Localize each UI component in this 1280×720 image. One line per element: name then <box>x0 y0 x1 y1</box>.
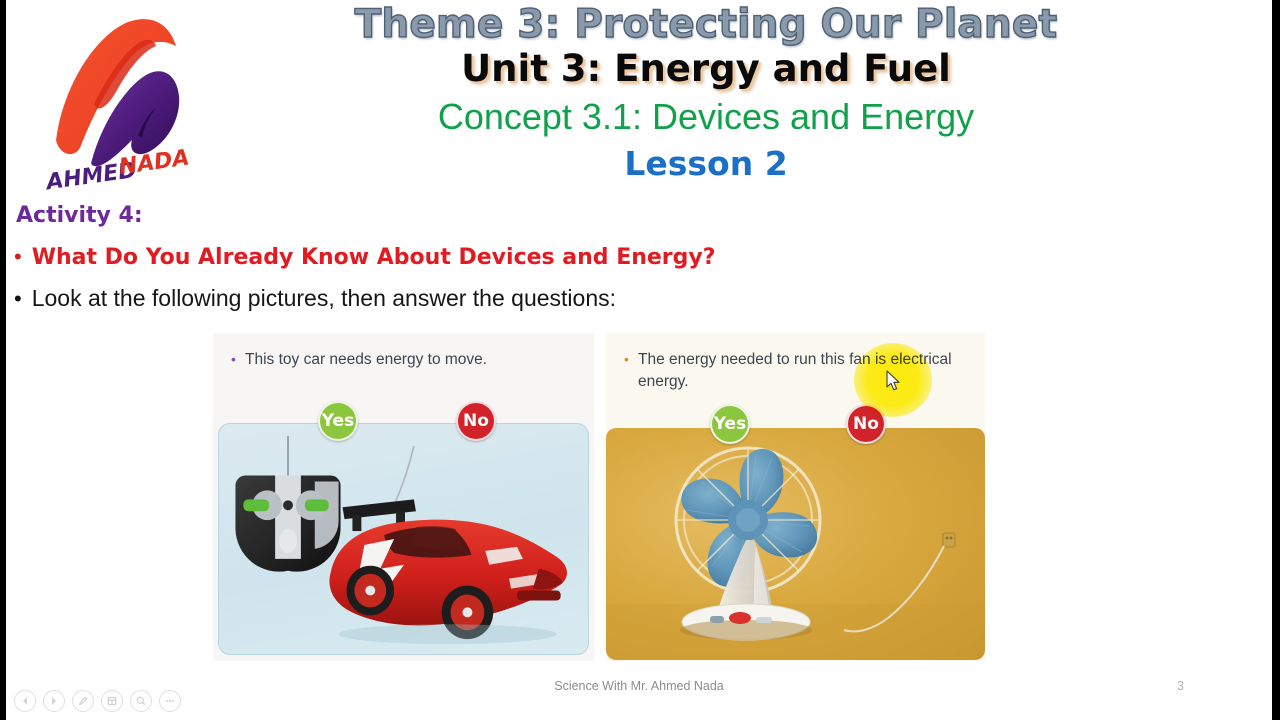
presentation-stage: AHMED NADA Theme 3: Protecting Our Plane… <box>0 0 1280 720</box>
bullet-dot-icon: • <box>14 288 22 310</box>
bullet-instruction-text: Look at the following pictures, then ans… <box>32 285 616 312</box>
page-number: 3 <box>1177 679 1184 693</box>
grid-icon <box>106 695 118 707</box>
bullet-dot-icon: • <box>624 350 629 370</box>
title-block: Theme 3: Protecting Our Planet Unit 3: E… <box>206 4 1206 183</box>
answer-no-button-fan[interactable]: No <box>846 404 886 444</box>
photo-toy-car <box>218 423 589 655</box>
zoom-in-button[interactable] <box>130 690 152 712</box>
activity-label: Activity 4: <box>16 203 143 228</box>
presenter-toolbar[interactable] <box>14 690 181 712</box>
card-text-fan: • The energy needed to run this fan is e… <box>624 349 971 393</box>
triangle-right-icon <box>48 695 60 707</box>
all-slides-button[interactable] <box>101 690 123 712</box>
pen-tools-button[interactable] <box>72 690 94 712</box>
mouse-cursor-icon <box>886 370 902 392</box>
previous-slide-button[interactable] <box>14 690 36 712</box>
answer-yes-button-fan[interactable]: Yes <box>710 404 750 444</box>
bullet-instruction: • Look at the following pictures, then a… <box>14 285 616 312</box>
theme-title: Theme 3: Protecting Our Planet <box>206 4 1206 46</box>
unit-title: Unit 3: Energy and Fuel <box>206 48 1206 91</box>
bullet-dot-icon: • <box>14 246 22 268</box>
photo-electric-fan <box>606 428 985 660</box>
bullet-question-text: What Do You Already Know About Devices a… <box>32 245 716 270</box>
answer-yes-button-car[interactable]: Yes <box>318 401 358 441</box>
lesson-title: Lesson 2 <box>206 144 1206 184</box>
next-slide-button[interactable] <box>43 690 65 712</box>
footer-note: Science With Mr. Ahmed Nada <box>6 679 1272 693</box>
card-statement: The energy needed to run this fan is ele… <box>624 349 971 393</box>
question-card-toy-car: • This toy car needs energy to move. Yes… <box>213 333 594 661</box>
triangle-left-icon <box>19 695 31 707</box>
concept-title: Concept 3.1: Devices and Energy <box>206 95 1206 138</box>
magnifier-icon <box>135 695 147 707</box>
ahmed-nada-logo: AHMED NADA <box>36 12 196 192</box>
bullet-dot-icon: • <box>231 350 236 370</box>
svg-text:NADA: NADA <box>117 145 191 180</box>
bullet-question: • What Do You Already Know About Devices… <box>14 245 716 270</box>
card-statement: This toy car needs energy to move. <box>231 349 580 371</box>
ellipsis-icon <box>164 695 176 707</box>
answer-no-button-car[interactable]: No <box>456 401 496 441</box>
question-card-fan: • The energy needed to run this fan is e… <box>606 333 985 661</box>
card-text-toy-car: • This toy car needs energy to move. <box>231 349 580 371</box>
pen-icon <box>77 695 89 707</box>
slide-canvas: AHMED NADA Theme 3: Protecting Our Plane… <box>6 0 1272 720</box>
more-options-button[interactable] <box>159 690 181 712</box>
